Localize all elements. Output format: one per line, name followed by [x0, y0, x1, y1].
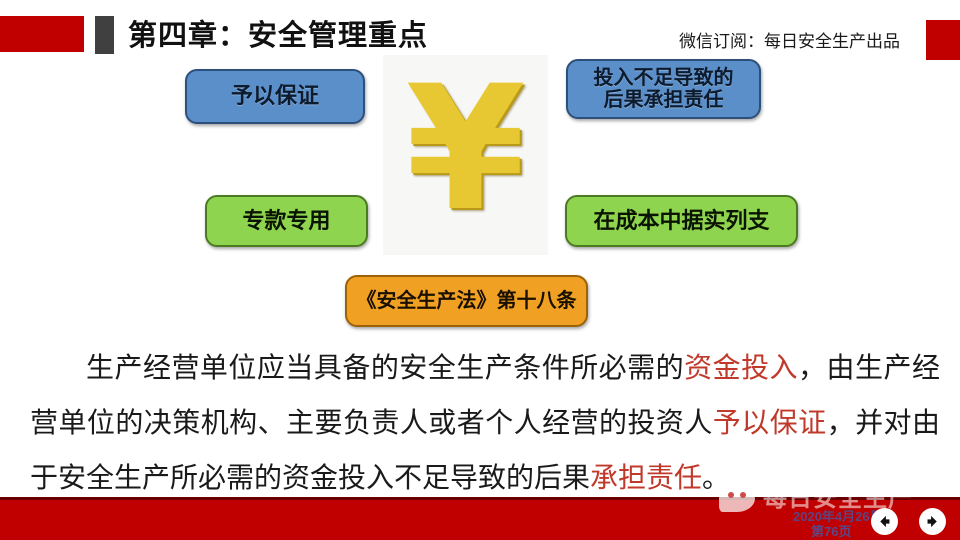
diagram-node-guarantee[interactable]: 予以保证 [185, 69, 365, 124]
yen-currency-image: ¥ [383, 55, 548, 255]
body-paragraph: 生产经营单位应当具备的安全生产条件所必需的资金投入，由生产经营单位的决策机构、主… [30, 340, 940, 505]
header-red-block-right [926, 20, 960, 60]
diagram-node-law-article[interactable]: 《安全生产法》第十八条 [345, 275, 588, 327]
diagram-node-label: 在成本中据实列支 [593, 209, 769, 234]
body-highlight-text: 予以保证 [713, 407, 827, 438]
diagram-node-label: 予以保证 [231, 84, 319, 109]
next-page-button[interactable] [919, 508, 946, 535]
diagram-node-consequence[interactable]: 投入不足导致的 后果承担责任 [566, 59, 761, 119]
page-title: 第四章：安全管理重点 [128, 18, 428, 54]
concept-diagram: ¥ 予以保证 投入不足导致的 后果承担责任 专款专用 在成本中据实列支 《安全生… [0, 55, 960, 345]
body-plain-text: 。 [702, 462, 730, 493]
diagram-node-label: 《安全生产法》第十八条 [357, 290, 577, 312]
subscription-label: 微信订阅：每日安全生产出品 [679, 27, 900, 52]
prev-page-button[interactable] [871, 508, 898, 535]
header-red-block-left [0, 16, 84, 52]
body-highlight-text: 资金投入 [684, 352, 798, 383]
diagram-node-label-line2: 后果承担责任 [594, 89, 734, 111]
diagram-node-cost-listing[interactable]: 在成本中据实列支 [565, 195, 798, 247]
arrow-right-icon [924, 513, 941, 530]
slide-canvas: 第四章：安全管理重点 微信订阅：每日安全生产出品 ¥ 予以保证 投入不足导致的 … [0, 0, 960, 540]
yen-currency-icon: ¥ [406, 63, 526, 235]
body-plain-text: 生产经营单位应当具备的安全生产条件所必需的 [86, 352, 684, 383]
diagram-node-label-line1: 投入不足导致的 [594, 67, 734, 89]
footer-bar [0, 497, 960, 540]
diagram-node-dedicated-funds[interactable]: 专款专用 [205, 195, 368, 247]
diagram-node-label: 专款专用 [242, 209, 330, 234]
body-highlight-text: 承担责任 [590, 462, 702, 493]
header-gray-bar [95, 16, 114, 54]
arrow-left-icon [876, 513, 893, 530]
